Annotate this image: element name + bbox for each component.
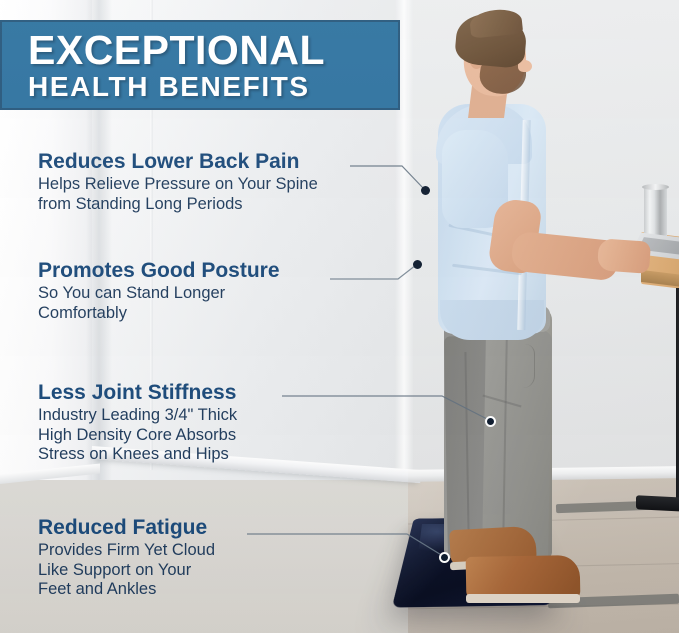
benefit-less-joint-stiffness: Less Joint Stiffness Industry Leading 3/… bbox=[38, 381, 237, 465]
callout-dot-lower-back-pain bbox=[421, 186, 430, 195]
benefit-body: Industry Leading 3/4" Thick High Density… bbox=[38, 406, 237, 465]
benefit-body: Helps Relieve Pressure on Your Spine fro… bbox=[38, 175, 318, 214]
infographic-canvas: EXCEPTIONAL HEALTH BENEFITS Reduces Lowe… bbox=[0, 0, 679, 633]
benefit-reduces-lower-back-pain: Reduces Lower Back Pain Helps Relieve Pr… bbox=[38, 150, 318, 214]
benefit-title: Reduces Lower Back Pain bbox=[38, 150, 318, 174]
banner-title-line1: EXCEPTIONAL bbox=[28, 29, 398, 71]
tumbler-lip bbox=[642, 184, 669, 190]
person-figure bbox=[408, 0, 679, 633]
hand bbox=[597, 238, 651, 274]
banner-title-line2: HEALTH BENEFITS bbox=[28, 72, 398, 102]
desk-edge bbox=[641, 270, 679, 294]
benefit-reduced-fatigue: Reduced Fatigue Provides Firm Yet Cloud … bbox=[38, 516, 215, 600]
benefit-title: Promotes Good Posture bbox=[38, 259, 280, 283]
callout-dot-joint-stiffness bbox=[485, 416, 496, 427]
callout-dot-good-posture bbox=[413, 260, 422, 269]
benefit-title: Less Joint Stiffness bbox=[38, 381, 237, 405]
benefit-title: Reduced Fatigue bbox=[38, 516, 215, 540]
hair-top bbox=[469, 7, 523, 38]
shoe-sole-front bbox=[466, 594, 580, 603]
benefit-body: Provides Firm Yet Cloud Like Support on … bbox=[38, 541, 215, 600]
benefit-body: So You can Stand Longer Comfortably bbox=[38, 284, 280, 323]
callout-dot-reduced-fatigue bbox=[439, 552, 450, 563]
shirt-hem bbox=[440, 300, 544, 340]
benefit-promotes-good-posture: Promotes Good Posture So You can Stand L… bbox=[38, 259, 280, 323]
header-banner: EXCEPTIONAL HEALTH BENEFITS bbox=[0, 20, 400, 110]
desk-foot bbox=[636, 495, 679, 515]
